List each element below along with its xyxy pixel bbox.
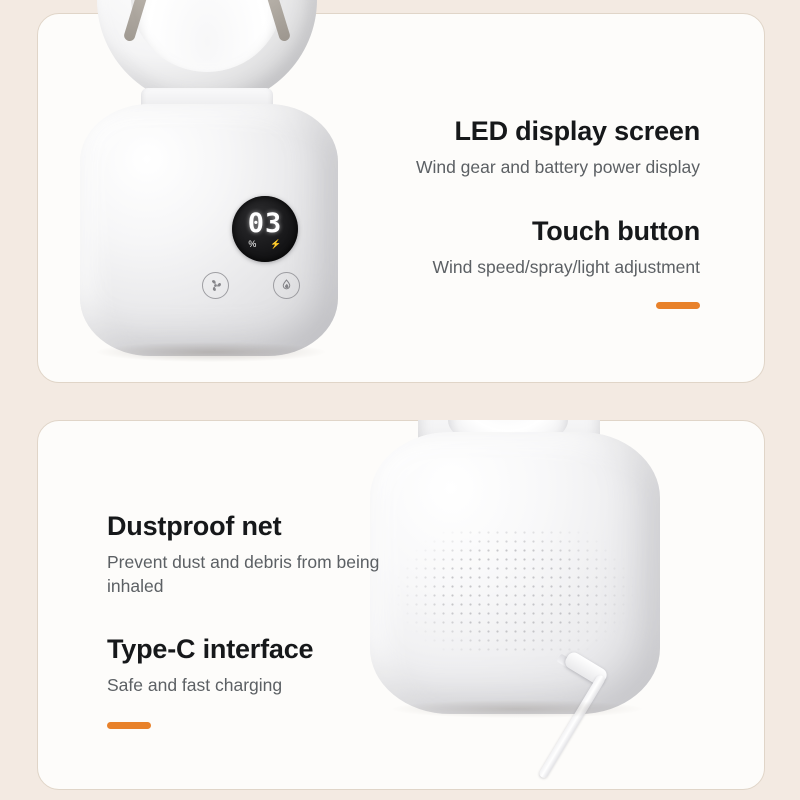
feature-heading: Touch button [340, 215, 700, 247]
dustproof-mesh [394, 528, 636, 656]
led-status-icons: % ⚡ [248, 240, 281, 249]
feature-subtext: Wind gear and battery power display [340, 156, 700, 180]
fan-icon [208, 278, 223, 293]
feature-subtext: Wind speed/spray/light adjustment [340, 256, 700, 280]
fan-base-product-image [352, 420, 682, 788]
fan-base-body [80, 104, 338, 356]
led-digit-value: 03 [248, 210, 283, 237]
accent-bar [107, 722, 151, 729]
fan-base-shadow [392, 700, 642, 718]
feature-type-c-text: Type-C interface Safe and fast charging [107, 633, 407, 729]
feature-touch-button-text: Touch button Wind speed/spray/light adju… [340, 215, 700, 309]
led-display-screen: 03 % ⚡ [232, 196, 298, 262]
battery-bolt-icon: ⚡ [270, 240, 281, 249]
fan-ring-opening [131, 0, 283, 72]
feature-subtext: Safe and fast charging [107, 674, 407, 698]
feature-led-display-text: LED display screen Wind gear and battery… [340, 115, 700, 180]
fan-speed-button[interactable] [202, 272, 229, 299]
spray-button[interactable] [273, 272, 300, 299]
feature-subtext: Prevent dust and debris from being inhal… [107, 551, 407, 598]
feature-dustproof-net-text: Dustproof net Prevent dust and debris fr… [107, 510, 407, 599]
bladeless-fan-product-image: 03 % ⚡ [37, 0, 387, 385]
percent-icon: % [248, 240, 256, 249]
feature-heading: Type-C interface [107, 633, 407, 665]
feature-heading: LED display screen [340, 115, 700, 147]
fan-base-shadow [97, 342, 325, 362]
accent-bar [656, 302, 700, 309]
water-drop-icon [279, 278, 294, 293]
feature-heading: Dustproof net [107, 510, 407, 542]
